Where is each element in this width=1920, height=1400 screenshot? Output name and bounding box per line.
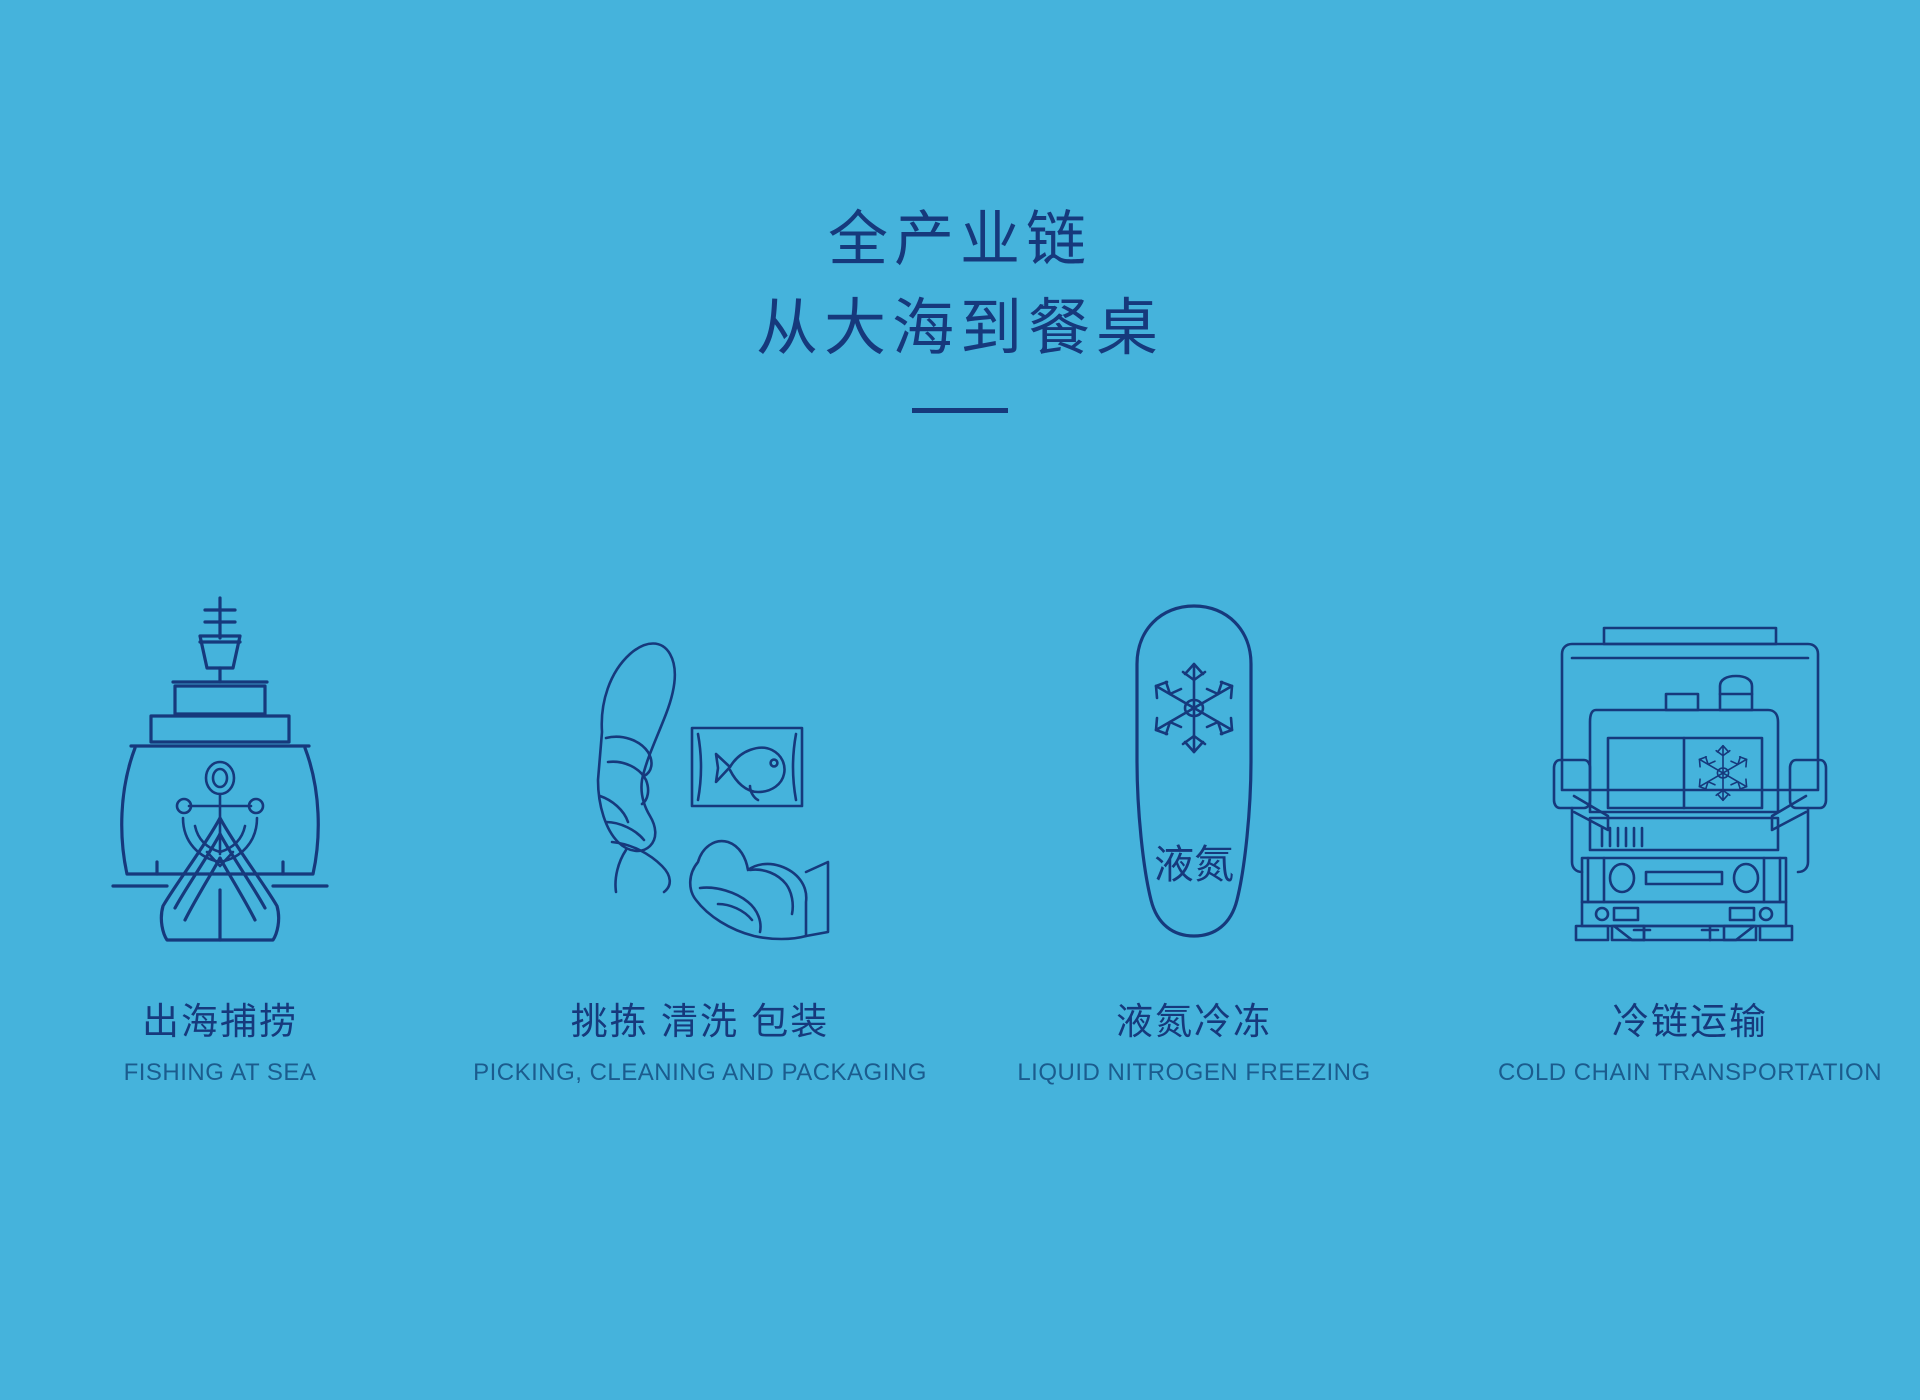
fishing-boat-anchor-icon xyxy=(105,520,335,940)
step-labels: 冷链运输 COLD CHAIN TRANSPORTATION xyxy=(1498,1000,1882,1088)
process-steps-row: 出海捕捞 FISHING AT SEA xyxy=(0,520,1920,1088)
refrigerated-truck-icon xyxy=(1550,520,1830,940)
droplet-inner-text: 液氮 xyxy=(1154,843,1234,887)
step-labels: 出海捕捞 FISHING AT SEA xyxy=(124,1000,317,1088)
step-labels: 液氮冷冻 LIQUID NITROGEN FREEZING xyxy=(1017,1000,1370,1088)
title-divider-wrap xyxy=(0,408,1920,413)
page-title-line-2: 从大海到餐桌 xyxy=(0,284,1920,372)
step-item-cold-chain-transportation[interactable]: 冷链运输 COLD CHAIN TRANSPORTATION xyxy=(1450,520,1920,1088)
hands-fish-package-icon xyxy=(550,520,850,940)
page-title-line-1: 全产业链 xyxy=(0,196,1920,284)
step-label-cn: 出海捕捞 xyxy=(124,1000,317,1044)
title-divider xyxy=(912,408,1008,413)
step-item-fishing-at-sea[interactable]: 出海捕捞 FISHING AT SEA xyxy=(0,520,460,1088)
step-label-cn: 挑拣 清洗 包装 xyxy=(473,1000,927,1044)
step-labels: 挑拣 清洗 包装 PICKING, CLEANING AND PACKAGING xyxy=(473,1000,927,1088)
step-item-liquid-nitrogen-freezing[interactable]: 液氮 液氮冷冻 LIQUID NITROGEN FREEZING xyxy=(954,520,1434,1088)
step-label-cn: 液氮冷冻 xyxy=(1017,1000,1370,1044)
step-item-picking-cleaning-packaging[interactable]: 挑拣 清洗 包装 PICKING, CLEANING AND PACKAGING xyxy=(460,520,940,1088)
liquid-nitrogen-droplet-icon: 液氮 xyxy=(1119,520,1269,940)
step-label-en: LIQUID NITROGEN FREEZING xyxy=(1017,1058,1370,1088)
step-label-en: FISHING AT SEA xyxy=(124,1058,317,1088)
step-label-cn: 冷链运输 xyxy=(1498,1000,1882,1044)
page-header: 全产业链 从大海到餐桌 xyxy=(0,0,1920,413)
step-label-en: PICKING, CLEANING AND PACKAGING xyxy=(473,1058,927,1088)
step-label-en: COLD CHAIN TRANSPORTATION xyxy=(1498,1058,1882,1088)
